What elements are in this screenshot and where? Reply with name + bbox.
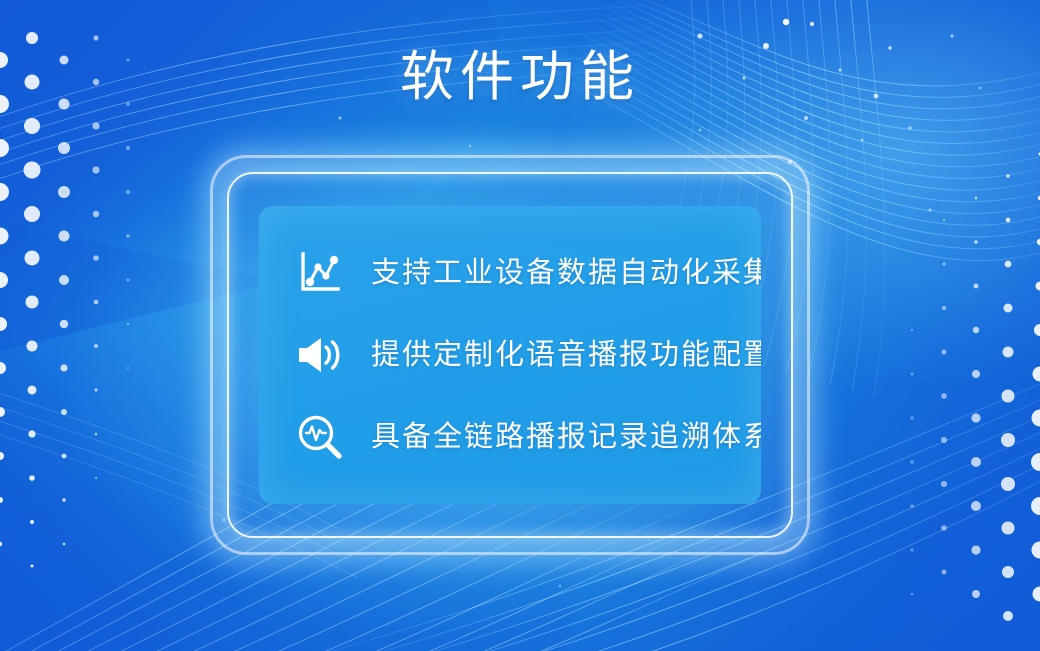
feature-label: 支持工业设备数据自动化采集: [371, 256, 761, 291]
list-item[interactable]: 具备全链路播报记录追溯体系: [297, 414, 761, 460]
feature-list: 支持工业设备数据自动化采集 提供定制化语音播报功能配置: [259, 206, 761, 504]
page-title: 软件功能: [0, 48, 1040, 107]
feature-label: 具备全链路播报记录追溯体系: [371, 420, 761, 455]
feature-panel-body: 支持工业设备数据自动化采集 提供定制化语音播报功能配置: [259, 206, 761, 504]
list-item[interactable]: 支持工业设备数据自动化采集: [297, 250, 761, 296]
magnifier-pulse-icon: [297, 414, 343, 460]
feature-panel-inner-border: 支持工业设备数据自动化采集 提供定制化语音播报功能配置: [227, 172, 793, 538]
slide-root: 软件功能: [0, 0, 1040, 651]
feature-label: 提供定制化语音播报功能配置: [371, 338, 761, 373]
feature-panel: 支持工业设备数据自动化采集 提供定制化语音播报功能配置: [210, 155, 810, 555]
speaker-volume-icon: [297, 332, 343, 378]
list-item[interactable]: 提供定制化语音播报功能配置: [297, 332, 761, 378]
line-chart-icon: [297, 250, 343, 296]
